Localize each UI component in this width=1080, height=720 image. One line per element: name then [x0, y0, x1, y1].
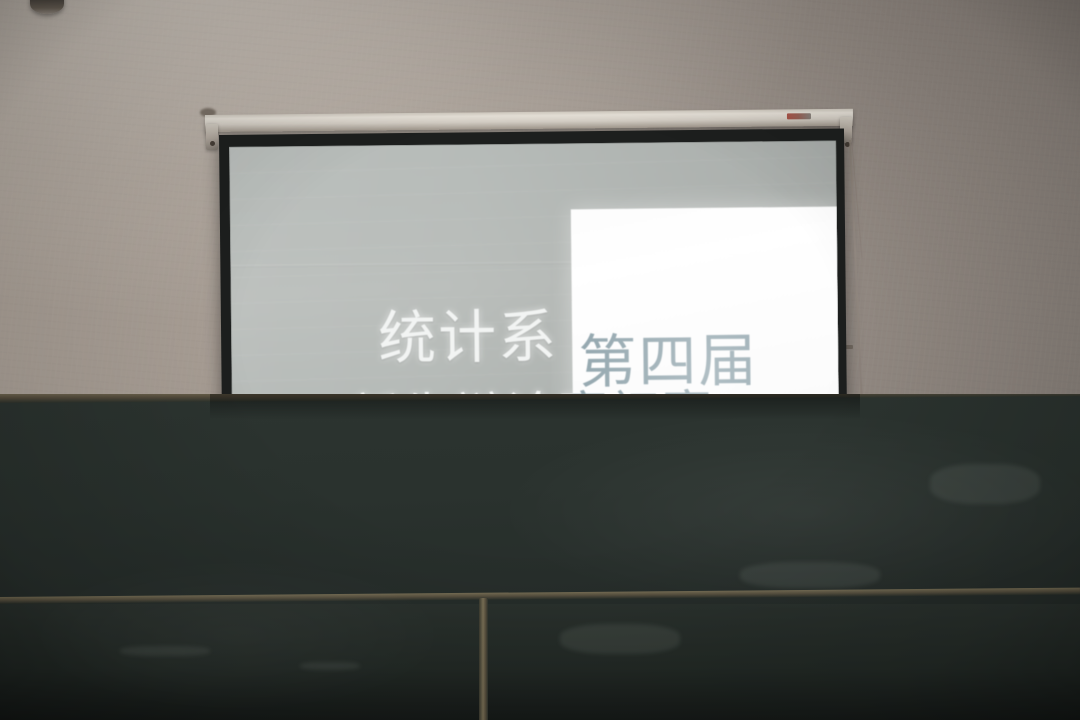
blackboard	[0, 394, 1080, 720]
classroom-scene: 统计系 第四届 新生辩论赛初赛 统计系 第四届 新生辩论赛初赛 辩	[0, 0, 1080, 720]
blackboard-lower-panel	[0, 604, 1080, 720]
chalk-smudge	[560, 624, 680, 654]
chalk-smudge	[740, 562, 880, 588]
chalk-rail-top	[0, 394, 1080, 403]
slide-title-main: 统计系	[378, 289, 559, 375]
bracket-screw-left	[210, 141, 215, 146]
chalk-smudge	[120, 646, 210, 656]
chalk-rail-middle	[0, 588, 1080, 604]
mount-bracket-left	[206, 124, 218, 150]
chalk-smudge	[300, 662, 360, 670]
chalk-smudge	[930, 464, 1040, 504]
roller-brand-label	[787, 113, 811, 119]
board-panel-divider	[479, 598, 488, 720]
